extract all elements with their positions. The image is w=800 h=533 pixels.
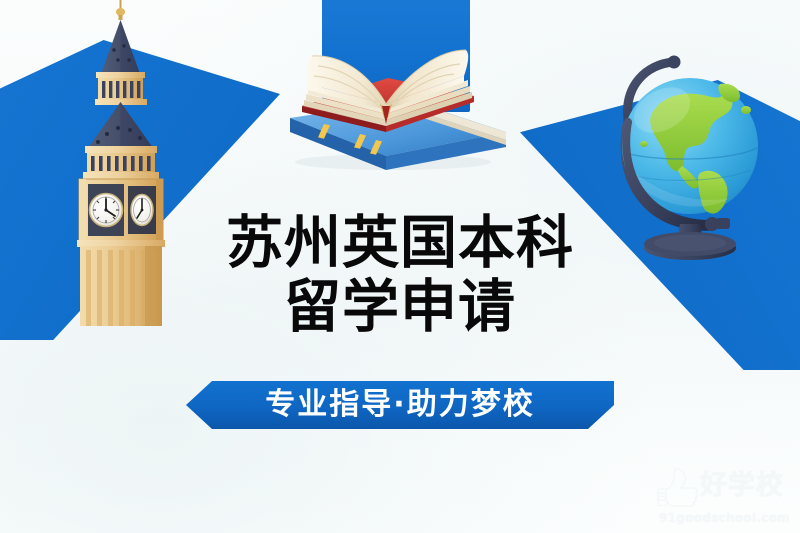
subtitle-ribbon-text: 专业指导·助力梦校 (265, 389, 534, 421)
headline-line-1: 苏州英国本科 (0, 212, 800, 274)
promo-poster: 苏州英国本科 留学申请 专业指导·助力梦校 好学校 91goodschool.c… (0, 0, 800, 533)
subtitle-ribbon-wrap: 专业指导·助力梦校 (0, 381, 800, 429)
headline: 苏州英国本科 留学申请 (0, 212, 800, 338)
subtitle-ribbon: 专业指导·助力梦校 (186, 381, 614, 429)
headline-line-2: 留学申请 (0, 276, 800, 338)
open-book-on-closed-book (268, 14, 510, 170)
